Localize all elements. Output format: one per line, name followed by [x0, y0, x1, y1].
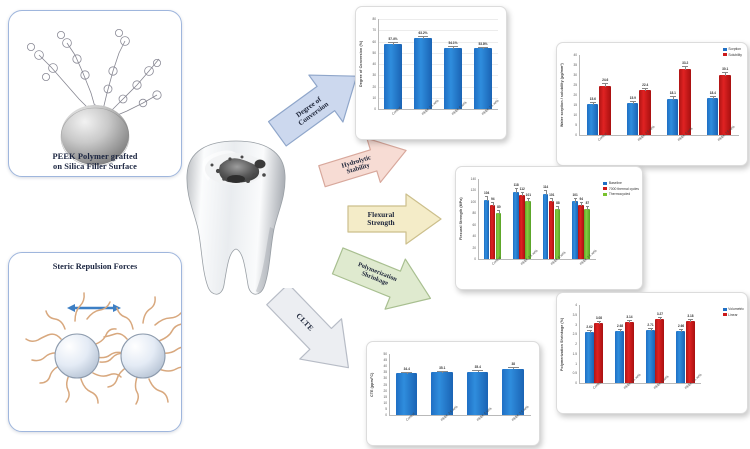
- error-bar-cap: [580, 202, 583, 203]
- error-bar-cap: [497, 210, 500, 211]
- y-axis-tick: 20: [472, 246, 476, 250]
- bar: [594, 323, 603, 383]
- bar: [474, 48, 492, 109]
- y-axis-tick: 20: [372, 85, 376, 89]
- bar: [599, 86, 611, 135]
- y-axis-tick: 25: [383, 383, 387, 387]
- bar-value-label: 80: [497, 205, 501, 209]
- bar-value-label: 15.6: [590, 97, 596, 101]
- y-axis-label: Water sorption / solubility (µg/mm³): [560, 55, 564, 135]
- y-axis-tick: 15: [383, 395, 387, 399]
- bar-value-label: 22.4: [642, 83, 648, 87]
- bar: [679, 69, 691, 135]
- bar: [585, 332, 594, 383]
- mechanism-caption-grafting: PEEK Polymer grafted on Silica Filler Su…: [9, 152, 181, 171]
- error-bar-cap: [515, 188, 518, 189]
- chart-card-degree-of-conversion: Degree of Conversion (%)0102030405060708…: [355, 6, 507, 140]
- error-bar-cap: [574, 198, 577, 199]
- bar-value-label: 101: [526, 193, 531, 197]
- mechanism-caption-steric: Steric Repulsion Forces: [9, 262, 181, 271]
- bar-value-label: 54.1%: [448, 41, 457, 45]
- bar-value-label: 18.4: [710, 91, 716, 95]
- y-axis-tick: 120: [471, 188, 476, 192]
- y-axis-tick: 5: [385, 407, 387, 411]
- error-bar-cap: [627, 320, 632, 321]
- bar: [525, 201, 530, 259]
- bar-value-label: 38: [511, 362, 515, 366]
- arrow-clte: CLTE: [256, 288, 370, 374]
- bar: [707, 98, 719, 135]
- y-axis-tick: 0: [474, 257, 476, 261]
- error-bar-cap: [618, 329, 623, 330]
- tooth-illustration: [178, 135, 294, 300]
- bar-value-label: 2.62: [586, 325, 592, 329]
- bar-value-label: 2.71: [647, 323, 653, 327]
- bar: [513, 192, 518, 259]
- bar: [686, 321, 695, 383]
- bar-value-label: 94: [579, 197, 583, 201]
- error-bar-cap: [401, 372, 412, 373]
- bar-value-label: 101: [572, 193, 577, 197]
- grafting-caption-line1: PEEK Polymer grafted: [52, 152, 137, 161]
- bar: [615, 331, 624, 383]
- legend-swatch: [723, 48, 727, 51]
- bar-value-label: 104: [484, 191, 489, 195]
- bar-value-label: 3.08: [596, 316, 602, 320]
- bar-value-label: 3.18: [687, 314, 693, 318]
- bar-value-label: 118: [514, 183, 519, 187]
- error-bar-cap: [602, 83, 608, 84]
- bar-value-label: 63.2%: [418, 31, 427, 35]
- plot-flexural-strength: Flexural Strength (MPa)02040608010012014…: [456, 167, 642, 289]
- y-axis-tick: 0: [385, 413, 387, 417]
- error-bar-cap: [648, 328, 653, 329]
- bar-value-label: 88: [556, 201, 560, 205]
- bar: [444, 48, 462, 109]
- bar: [396, 373, 417, 415]
- arrow-hydrolytic-stability: Hydrolytic Stability: [316, 132, 414, 194]
- legend-swatch: [603, 187, 607, 190]
- mechanism-card-grafting: PEEK Polymer grafted on Silica Filler Su…: [8, 10, 182, 177]
- bar: [655, 319, 664, 383]
- y-axis-tick: 0: [575, 133, 577, 137]
- bar: [431, 372, 452, 415]
- error-bar-cap: [478, 47, 487, 48]
- y-axis-tick: 30: [372, 73, 376, 77]
- error-bar-cap: [586, 206, 589, 207]
- legend-label: Baseline: [609, 181, 622, 185]
- bar-value-label: 15.9: [630, 96, 636, 100]
- bar-value-label: 24.6: [602, 78, 608, 82]
- y-axis-tick: 60: [472, 223, 476, 227]
- y-axis-tick: 100: [471, 200, 476, 204]
- y-axis-tick: 0: [374, 107, 376, 111]
- bar: [384, 44, 402, 109]
- grafting-caption-line2: on Silica Filler Surface: [53, 162, 137, 171]
- y-axis-tick: 3: [575, 323, 577, 327]
- bar-value-label: 33.2: [682, 61, 688, 65]
- error-bar-cap: [722, 72, 728, 73]
- y-axis-tick: 40: [372, 62, 376, 66]
- bar: [584, 209, 589, 259]
- legend-label: Linear: [728, 313, 737, 317]
- error-bar-cap: [556, 206, 559, 207]
- error-bar-cap: [544, 190, 547, 191]
- bar: [719, 75, 731, 135]
- error-bar-cap: [418, 36, 427, 37]
- y-axis-tick: 40: [472, 234, 476, 238]
- bar-value-label: 114: [543, 185, 548, 189]
- y-axis: [389, 354, 390, 415]
- plot-hydrolytic-stability: Water sorption / solubility (µg/mm³)0510…: [557, 43, 747, 165]
- bar: [555, 209, 560, 259]
- error-bar-cap: [448, 46, 457, 47]
- y-axis-tick: 25: [573, 83, 577, 87]
- bar: [625, 322, 634, 383]
- y-axis: [378, 19, 379, 109]
- bar-value-label: 2.66: [678, 324, 684, 328]
- y-axis-tick: 20: [383, 389, 387, 393]
- error-bar-cap: [670, 96, 676, 97]
- bar-value-label: 35.1: [439, 366, 445, 370]
- y-axis-tick: 2.5: [573, 332, 577, 336]
- bar: [667, 99, 679, 135]
- plot-degree-of-conversion: Degree of Conversion (%)0102030405060708…: [356, 7, 506, 139]
- bar: [646, 330, 655, 383]
- y-axis-tick: 0.5: [573, 371, 577, 375]
- error-bar-cap: [597, 321, 602, 322]
- legend-item: Sorption: [723, 47, 742, 51]
- bar-value-label: 101: [549, 193, 554, 197]
- y-axis-tick: 5: [575, 123, 577, 127]
- legend-swatch: [603, 182, 607, 185]
- bar-value-label: 2.68: [617, 324, 623, 328]
- y-axis-label: Polymerization Shrinkage (%): [560, 305, 564, 383]
- bar: [572, 201, 577, 259]
- error-bar-cap: [630, 101, 636, 102]
- bar-value-label: 18.1: [670, 91, 676, 95]
- bar-value-label: 94: [491, 197, 495, 201]
- bar: [627, 103, 639, 135]
- legend-item: Volumetric: [723, 307, 744, 311]
- error-bar-cap: [642, 88, 648, 89]
- y-axis: [478, 179, 479, 259]
- y-axis-tick: 50: [383, 352, 387, 356]
- legend-label: Solubility: [728, 53, 742, 57]
- y-axis-tick: 35: [573, 63, 577, 67]
- plot-polymerization-shrinkage: Polymerization Shrinkage (%)00.511.522.5…: [557, 293, 747, 413]
- error-bar-cap: [508, 367, 519, 368]
- bar-value-label: 57.4%: [388, 37, 397, 41]
- bar: [467, 372, 488, 415]
- y-axis-tick: 30: [383, 376, 387, 380]
- y-axis: [579, 55, 580, 135]
- error-bar-cap: [491, 202, 494, 203]
- y-axis-tick: 20: [573, 93, 577, 97]
- steric-caption-line1: Steric Repulsion Forces: [53, 262, 138, 271]
- bar-value-label: 30.1: [722, 67, 728, 71]
- y-axis-tick: 1: [575, 362, 577, 366]
- bar-value-label: 53.8%: [478, 42, 487, 46]
- y-axis-tick: 40: [383, 364, 387, 368]
- bar: [414, 38, 432, 109]
- chart-card-polymerization-shrinkage: Polymerization Shrinkage (%)00.511.522.5…: [556, 292, 748, 414]
- y-axis-tick: 2: [575, 342, 577, 346]
- repulsion-arrow: [67, 304, 121, 312]
- legend-item: 7000 thermal cycles: [603, 187, 639, 191]
- legend-item: Linear: [723, 313, 744, 317]
- chart-legend: Baseline7000 thermal cyclesThermocycled: [603, 181, 639, 198]
- bar: [587, 104, 599, 135]
- bar: [543, 194, 548, 259]
- y-axis: [579, 305, 580, 383]
- legend-swatch: [603, 193, 607, 196]
- error-bar-cap: [587, 330, 592, 331]
- y-axis-label: Flexural Strength (MPa): [459, 179, 463, 259]
- error-bar-cap: [688, 319, 693, 320]
- error-bar-cap: [658, 317, 663, 318]
- y-axis-tick: 40: [573, 53, 577, 57]
- chart-legend: SorptionSolubility: [723, 47, 742, 58]
- arrow-flexural-strength: Flexural Strength: [344, 188, 446, 250]
- y-axis-tick: 45: [383, 358, 387, 362]
- error-bar-cap: [710, 96, 716, 97]
- bar: [490, 205, 495, 259]
- chart-card-clte: CTE (ppm/°C)0510152025303540455034.4Cont…: [366, 341, 540, 446]
- bar-value-label: 35.4: [475, 365, 481, 369]
- y-axis-tick: 15: [573, 103, 577, 107]
- y-axis-tick: 35: [383, 370, 387, 374]
- error-bar-cap: [679, 329, 684, 330]
- graphical-abstract-canvas: PEEK Polymer grafted on Silica Filler Su…: [0, 0, 750, 449]
- bar: [519, 195, 524, 259]
- error-bar-cap: [485, 196, 488, 197]
- y-axis-tick: 3.5: [573, 313, 577, 317]
- y-axis-tick: 10: [383, 401, 387, 405]
- mechanism-card-steric: Steric Repulsion Forces: [8, 252, 182, 432]
- legend-label: Volumetric: [728, 307, 744, 311]
- y-axis-tick: 0: [575, 381, 577, 385]
- y-axis-label: CTE (ppm/°C): [370, 354, 374, 415]
- chart-card-flexural-strength: Flexural Strength (MPa)02040608010012014…: [455, 166, 643, 290]
- bar: [496, 213, 501, 259]
- bar: [502, 369, 523, 415]
- y-axis-tick: 80: [372, 17, 376, 21]
- legend-label: Thermocycled: [609, 192, 630, 196]
- error-bar-cap: [550, 198, 553, 199]
- chart-card-hydrolytic-stability: Water sorption / solubility (µg/mm³)0510…: [556, 42, 748, 166]
- error-bar-cap: [388, 42, 397, 43]
- y-axis-tick: 10: [372, 96, 376, 100]
- plot-clte: CTE (ppm/°C)0510152025303540455034.4Cont…: [367, 342, 539, 445]
- y-axis-tick: 10: [573, 113, 577, 117]
- y-axis-tick: 140: [471, 177, 476, 181]
- y-axis-tick: 4: [575, 303, 577, 307]
- y-axis-tick: 1.5: [573, 352, 577, 356]
- gridline: [378, 30, 498, 31]
- error-bar-cap: [472, 370, 483, 371]
- bar-value-label: 34.4: [404, 367, 410, 371]
- bar: [549, 201, 554, 259]
- legend-swatch: [723, 308, 727, 311]
- error-bar-cap: [682, 66, 688, 67]
- error-bar-cap: [437, 371, 448, 372]
- chart-legend: VolumetricLinear: [723, 307, 744, 318]
- y-axis-tick: 70: [372, 28, 376, 32]
- y-axis-tick: 80: [472, 211, 476, 215]
- y-axis-tick: 30: [573, 73, 577, 77]
- legend-item: Baseline: [603, 181, 639, 185]
- bar-value-label: 3.27: [657, 312, 663, 316]
- legend-item: Thermocycled: [603, 192, 639, 196]
- bar: [578, 205, 583, 259]
- legend-swatch: [723, 53, 727, 56]
- bar: [484, 200, 489, 259]
- legend-item: Solubility: [723, 53, 742, 57]
- legend-label: 7000 thermal cycles: [609, 187, 639, 191]
- error-bar-cap: [521, 192, 524, 193]
- y-axis-tick: 60: [372, 40, 376, 44]
- y-axis-label: Degree of Conversion (%): [359, 19, 363, 109]
- gridline: [378, 19, 498, 20]
- steric-repulsion-diagram: [9, 253, 181, 431]
- bar-value-label: 87: [586, 201, 590, 205]
- bar-value-label: 3.14: [626, 315, 632, 319]
- error-bar-cap: [527, 198, 530, 199]
- bar: [676, 331, 685, 383]
- bar-value-label: 112: [520, 187, 525, 191]
- legend-swatch: [723, 313, 727, 316]
- error-bar-cap: [590, 102, 596, 103]
- y-axis-tick: 50: [372, 51, 376, 55]
- legend-label: Sorption: [728, 47, 741, 51]
